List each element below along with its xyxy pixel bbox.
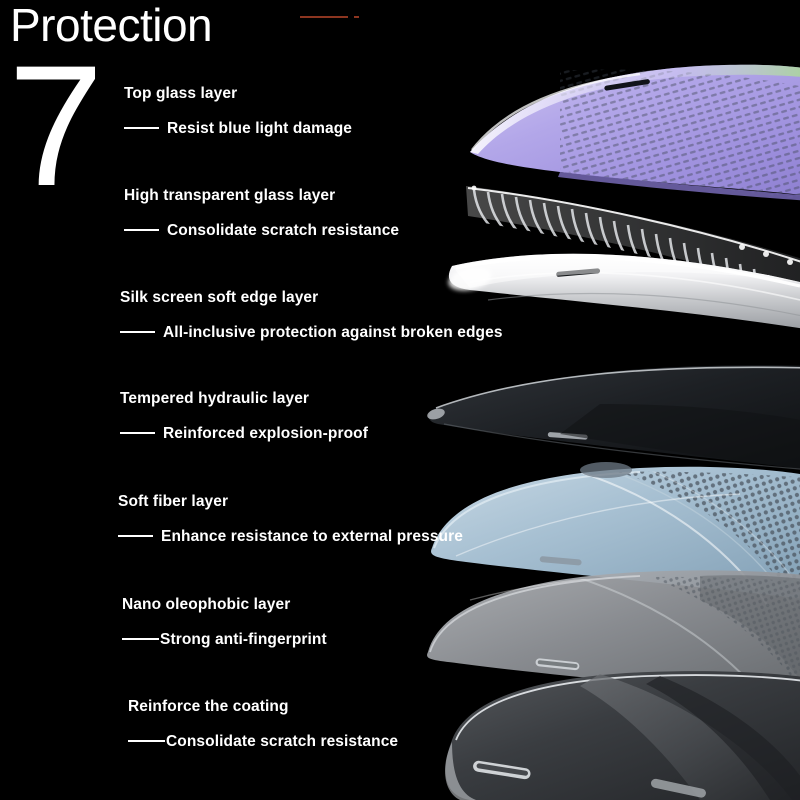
infographic-canvas: Protection 7 Top glass layer Resist blue…	[0, 0, 800, 800]
dash-icon	[120, 331, 155, 333]
feature-soft-fiber-layer: Soft fiber layer Enhance resistance to e…	[118, 494, 463, 544]
feature-benefit-row: Reinforced explosion-proof	[120, 426, 368, 442]
dash-icon	[128, 740, 165, 742]
feature-heading: Silk screen soft edge layer	[120, 290, 503, 306]
layer-count-numeral: 7	[8, 40, 100, 212]
layer-reinforce-coating-graphic	[445, 671, 800, 800]
accent-rule-dot	[354, 16, 359, 18]
feature-heading: Tempered hydraulic layer	[120, 391, 368, 407]
feature-benefit: All-inclusive protection against broken …	[163, 325, 503, 341]
layer-nano-oleophobic-graphic	[427, 570, 800, 714]
feature-reinforce-the-coating: Reinforce the coating Consolidate scratc…	[128, 699, 398, 749]
feature-tempered-hydraulic-layer: Tempered hydraulic layer Reinforced expl…	[120, 391, 368, 441]
feature-benefit: Consolidate scratch resistance	[167, 223, 399, 239]
feature-benefit: Enhance resistance to external pressure	[161, 529, 463, 545]
layer-soft-fiber-graphic	[431, 462, 800, 616]
feature-high-transparent-glass-layer: High transparent glass layer Consolidate…	[124, 188, 399, 238]
feature-benefit-row: Resist blue light damage	[124, 121, 352, 137]
feature-heading: Nano oleophobic layer	[122, 597, 327, 613]
feature-heading: Reinforce the coating	[128, 699, 398, 715]
feature-benefit: Consolidate scratch resistance	[166, 734, 398, 750]
feature-benefit: Strong anti-fingerprint	[160, 632, 327, 648]
feature-heading: Top glass layer	[124, 86, 352, 102]
feature-benefit: Resist blue light damage	[167, 121, 352, 137]
feature-benefit: Reinforced explosion-proof	[163, 426, 368, 442]
feature-benefit-row: Enhance resistance to external pressure	[118, 529, 463, 545]
layer-tempered-hydraulic-graphic	[426, 365, 800, 470]
dash-icon	[118, 535, 153, 537]
feature-benefit-row: Consolidate scratch resistance	[128, 734, 398, 750]
feature-benefit-row: Strong anti-fingerprint	[122, 632, 327, 648]
dash-icon	[120, 432, 155, 434]
feature-nano-oleophobic-layer: Nano oleophobic layer Strong anti-finger…	[122, 597, 327, 647]
dash-icon	[124, 229, 159, 231]
feature-benefit-row: Consolidate scratch resistance	[124, 223, 399, 239]
layer-high-transparent-graphic	[466, 186, 800, 332]
feature-heading: High transparent glass layer	[124, 188, 399, 204]
accent-rule	[300, 16, 348, 18]
dash-icon	[124, 127, 159, 129]
feature-benefit-row: All-inclusive protection against broken …	[120, 325, 503, 341]
feature-silk-screen-soft-edge-layer: Silk screen soft edge layer All-inclusiv…	[120, 290, 503, 340]
feature-top-glass-layer: Top glass layer Resist blue light damage	[124, 86, 352, 136]
layer-top-glass-graphic	[470, 60, 800, 210]
dash-icon	[122, 638, 159, 640]
feature-heading: Soft fiber layer	[118, 494, 463, 510]
